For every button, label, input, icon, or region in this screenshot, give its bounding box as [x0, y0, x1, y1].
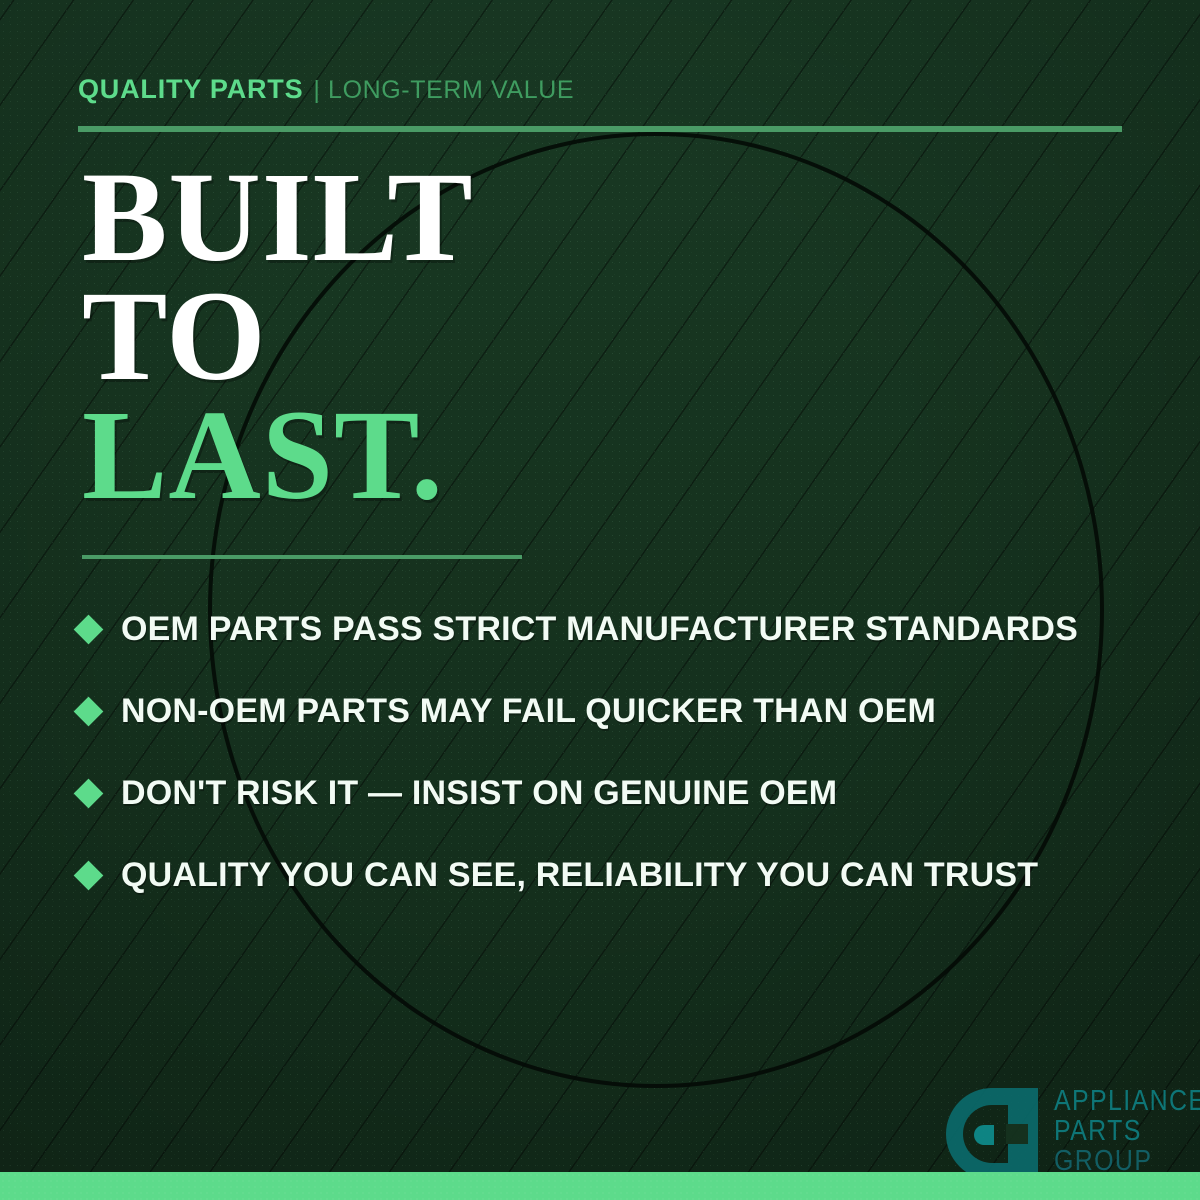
diamond-bullet-icon — [74, 778, 104, 808]
list-item-label: DON'T RISK IT — INSIST ON GENUINE OEM — [121, 774, 837, 813]
diamond-bullet-icon — [74, 860, 104, 890]
headline-line-1: BUILT — [82, 158, 474, 277]
headline-line-2: TO — [82, 277, 474, 396]
brand-wordmark-line-2: PARTS — [1054, 1116, 1200, 1146]
list-item-label: NON-OEM PARTS MAY FAIL QUICKER THAN OEM — [121, 692, 936, 731]
bottom-accent-bar — [0, 1172, 1200, 1200]
bottom-bar-texture — [0, 1172, 1200, 1200]
eyebrow-sub-label: | LONG-TERM VALUE — [313, 76, 574, 104]
promo-poster: QUALITY PARTS| LONG-TERM VALUE BUILT TO … — [0, 0, 1200, 1200]
brand-logo: APPLIANCE PARTS GROUP — [944, 1086, 1200, 1184]
header-divider-rule — [78, 126, 1122, 132]
g-monogram-icon — [944, 1086, 1040, 1184]
list-item-label: QUALITY YOU CAN SEE, RELIABILITY YOU CAN… — [121, 856, 1038, 895]
poster-content: QUALITY PARTS| LONG-TERM VALUE BUILT TO … — [0, 0, 1200, 1200]
headline-divider-rule — [82, 555, 522, 559]
benefit-list: OEM PARTS PASS STRICT MANUFACTURER STAND… — [78, 588, 1158, 916]
list-item: DON'T RISK IT — INSIST ON GENUINE OEM — [78, 752, 1158, 834]
list-item: QUALITY YOU CAN SEE, RELIABILITY YOU CAN… — [78, 834, 1158, 916]
eyebrow-main-label: QUALITY PARTS — [78, 74, 303, 104]
list-item: NON-OEM PARTS MAY FAIL QUICKER THAN OEM — [78, 670, 1158, 752]
brand-wordmark: APPLIANCE PARTS GROUP — [1054, 1086, 1200, 1176]
brand-wordmark-line-1: APPLIANCE — [1054, 1086, 1200, 1116]
eyebrow-kicker: QUALITY PARTS| LONG-TERM VALUE — [78, 74, 574, 105]
diamond-bullet-icon — [74, 696, 104, 726]
diamond-bullet-icon — [74, 614, 104, 644]
list-item-label: OEM PARTS PASS STRICT MANUFACTURER STAND… — [121, 610, 1078, 649]
list-item: OEM PARTS PASS STRICT MANUFACTURER STAND… — [78, 588, 1158, 670]
page-title: BUILT TO LAST. — [82, 158, 474, 515]
headline-line-3: LAST. — [82, 396, 474, 515]
